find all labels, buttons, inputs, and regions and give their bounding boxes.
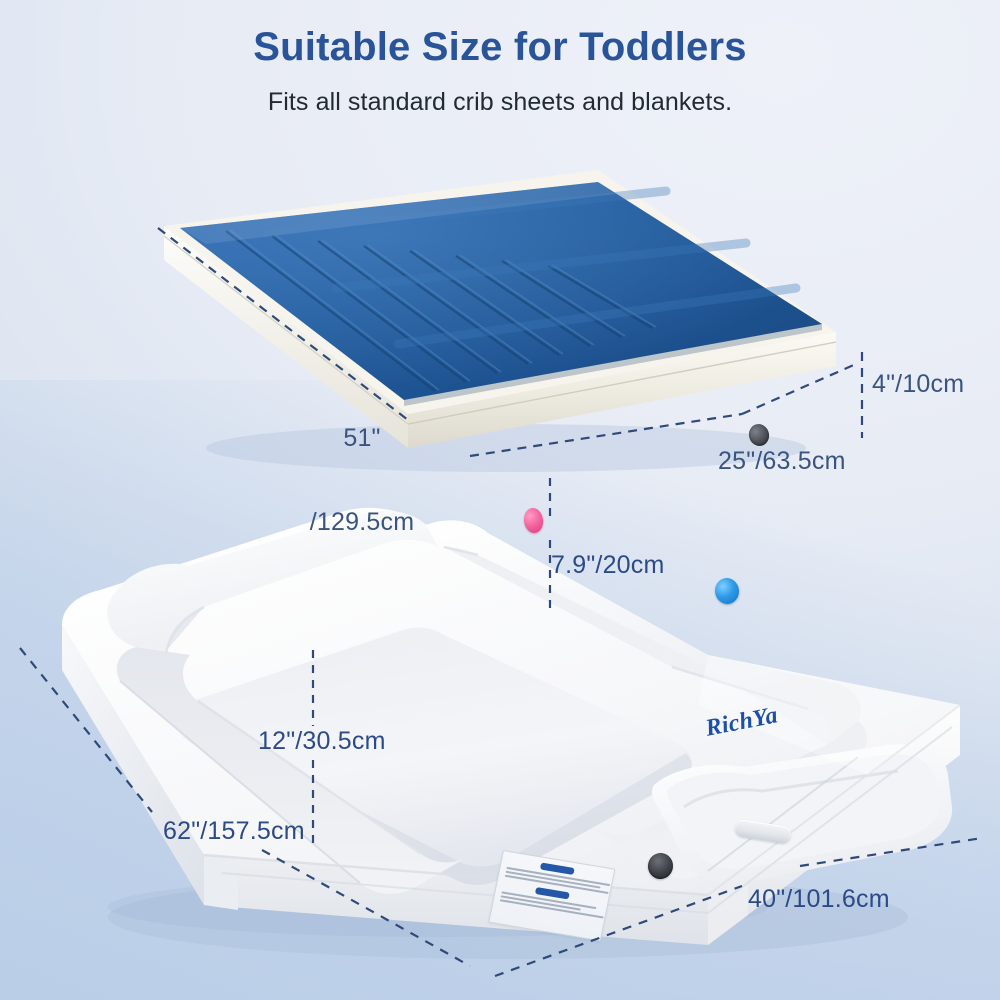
dimension-value-inches: 51" xyxy=(282,424,442,452)
dimension-label-base-height: 12"/30.5cm xyxy=(258,727,386,755)
dimension-label-base-length: 62"/157.5cm xyxy=(163,817,305,845)
dimension-label-base-width: 40"/101.6cm xyxy=(748,885,890,913)
page-title: Suitable Size for Toddlers xyxy=(0,26,1000,68)
warning-label-text-line xyxy=(500,900,604,919)
dimension-value-metric: /129.5cm xyxy=(282,508,442,536)
page-subtitle: Fits all standard crib sheets and blanke… xyxy=(0,88,1000,117)
dimension-label-mattress-height: 4"/10cm xyxy=(872,370,964,398)
dimension-label-mattress-width: 25"/63.5cm xyxy=(718,447,846,475)
mattress-svg xyxy=(146,148,846,468)
dimension-label-rail-height: 7.9"/20cm xyxy=(551,551,665,579)
infographic-canvas: Suitable Size for Toddlers Fits all stan… xyxy=(0,0,1000,1000)
mattress-illustration xyxy=(146,148,846,468)
dimension-label-mattress-length: 51" /129.5cm xyxy=(282,368,442,592)
